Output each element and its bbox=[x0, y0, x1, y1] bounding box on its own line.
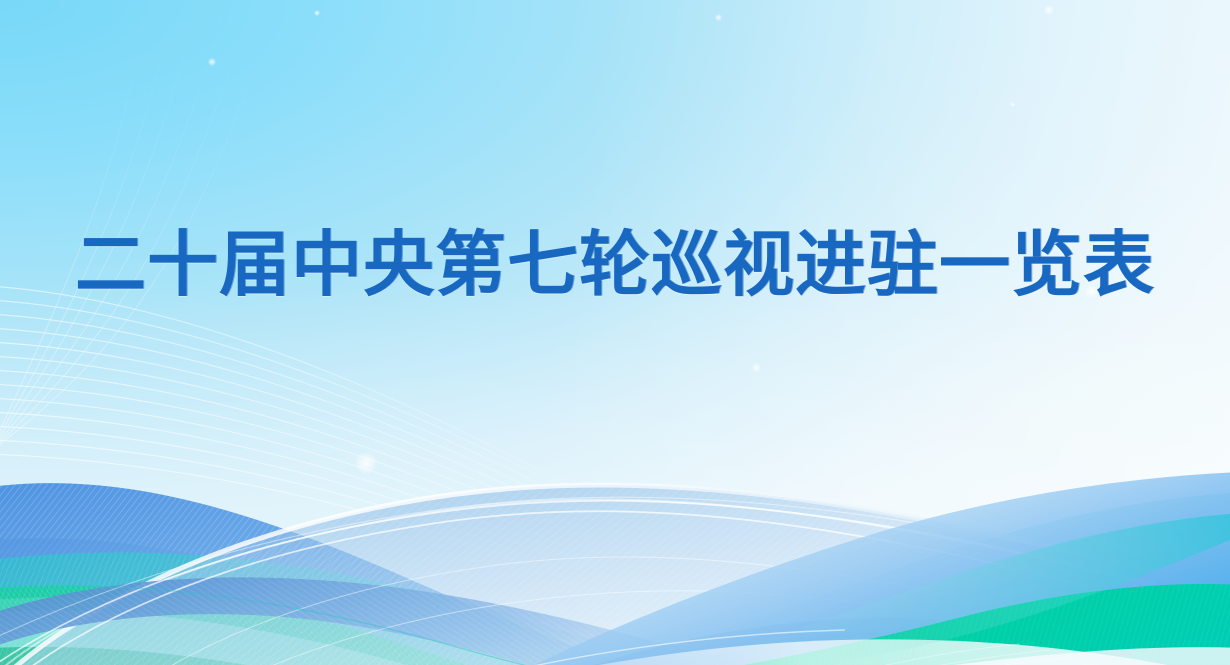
banner-image: 二十届中央第七轮巡视进驻一览表 bbox=[0, 0, 1230, 665]
page-title: 二十届中央第七轮巡视进驻一览表 bbox=[75, 228, 1155, 302]
wave-teal-right-arc bbox=[0, 0, 1230, 665]
banner-title-container: 二十届中央第七轮巡视进驻一览表 bbox=[0, 228, 1230, 302]
